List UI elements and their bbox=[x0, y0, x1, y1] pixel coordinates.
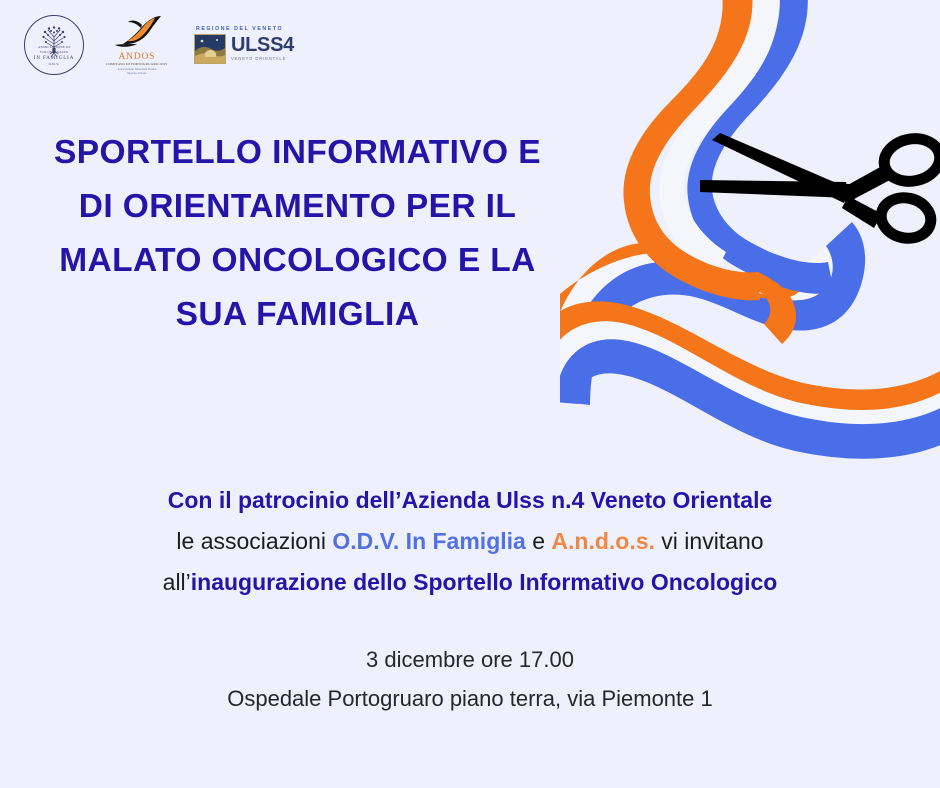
event-details: 3 dicembre ore 17.00 Ospedale Portogruar… bbox=[0, 640, 940, 718]
swallow-bird-icon bbox=[107, 14, 167, 48]
headline-line-2: DI ORIENTAMENTO PER IL bbox=[0, 180, 595, 234]
invitation-emphasis: inaugurazione dello Sportello Informativ… bbox=[191, 569, 778, 595]
ribbon-band-white-upper bbox=[659, 0, 779, 276]
headline-line-3: MALATO ONCOLOGICO E LA bbox=[0, 234, 595, 288]
associations-conjunction: e bbox=[526, 528, 552, 554]
ribbon-band-white-lower bbox=[560, 243, 833, 402]
org-in-famiglia: O.D.V. In Famiglia bbox=[332, 528, 525, 554]
logo-strip: ASSOCIAZIONE DI VOLONTARIATO IN FAMIGLIA… bbox=[24, 14, 294, 75]
andos-wordmark: ANDOS bbox=[106, 52, 168, 62]
seal-caption-main: IN FAMIGLIA bbox=[25, 55, 83, 62]
scissors-icon bbox=[700, 133, 940, 243]
logo-ulss4: REGIONE DEL VENETO ULSS4 VENETO ORIENTAL… bbox=[194, 26, 294, 64]
patronage-line: Con il patrocinio dell’Azienda Ulss n.4 … bbox=[0, 480, 940, 521]
headline-line-1: SPORTELLO INFORMATIVO E bbox=[0, 126, 595, 180]
associations-prefix: le associazioni bbox=[176, 528, 332, 554]
event-datetime: 3 dicembre ore 17.00 bbox=[0, 640, 940, 679]
ulss-region-label: REGIONE DEL VENETO bbox=[194, 26, 294, 32]
ulss-acronym: ULSS4 bbox=[231, 36, 294, 54]
seal-caption-top: ASSOCIAZIONE DI VOLONTARIATO bbox=[25, 45, 83, 55]
in-famiglia-seal: ASSOCIAZIONE DI VOLONTARIATO IN FAMIGLIA… bbox=[24, 15, 84, 75]
ribbon-band-orange-lower bbox=[560, 243, 804, 396]
page-title: SPORTELLO INFORMATIVO E DI ORIENTAMENTO … bbox=[0, 126, 595, 342]
invitation-line: all’inaugurazione dello Sportello Inform… bbox=[0, 562, 940, 603]
seal-caption: ASSOCIAZIONE DI VOLONTARIATO IN FAMIGLIA… bbox=[25, 45, 83, 67]
seal-caption-bottom: O.D.V. bbox=[25, 62, 83, 67]
andos-subtitle-3: Operate al Seno bbox=[106, 71, 168, 75]
org-andos: A.n.d.o.s. bbox=[551, 528, 655, 554]
ribbon-tail-orange bbox=[560, 301, 940, 410]
venetian-lion-crest-icon bbox=[194, 34, 226, 64]
invitation-prefix: all’ bbox=[163, 569, 191, 595]
body-copy: Con il patrocinio dell’Azienda Ulss n.4 … bbox=[0, 480, 940, 603]
ribbon-cutting-illustration bbox=[560, 0, 940, 460]
ribbon-curl-orange bbox=[740, 272, 796, 344]
headline-line-4: SUA FAMIGLIA bbox=[0, 288, 595, 342]
ulss-tagline: VENETO ORIENTALE bbox=[231, 56, 294, 61]
ribbon-band-blue-lower bbox=[562, 222, 865, 405]
associations-suffix: vi invitano bbox=[655, 528, 764, 554]
ribbon-band-blue-upper bbox=[687, 0, 834, 294]
ribbon-band-orange-upper bbox=[623, 0, 760, 300]
logo-andos: ANDOS COMITATO DI PORTOGRUARO ODV Associ… bbox=[106, 14, 172, 75]
logo-in-famiglia: ASSOCIAZIONE DI VOLONTARIATO IN FAMIGLIA… bbox=[24, 15, 84, 75]
poster-canvas: ASSOCIAZIONE DI VOLONTARIATO IN FAMIGLIA… bbox=[0, 0, 940, 788]
event-venue: Ospedale Portogruaro piano terra, via Pi… bbox=[0, 679, 940, 718]
ribbon-tail-blue bbox=[560, 335, 940, 458]
associations-line: le associazioni O.D.V. In Famiglia e A.n… bbox=[0, 521, 940, 562]
ribbon-tail-white bbox=[560, 317, 940, 424]
